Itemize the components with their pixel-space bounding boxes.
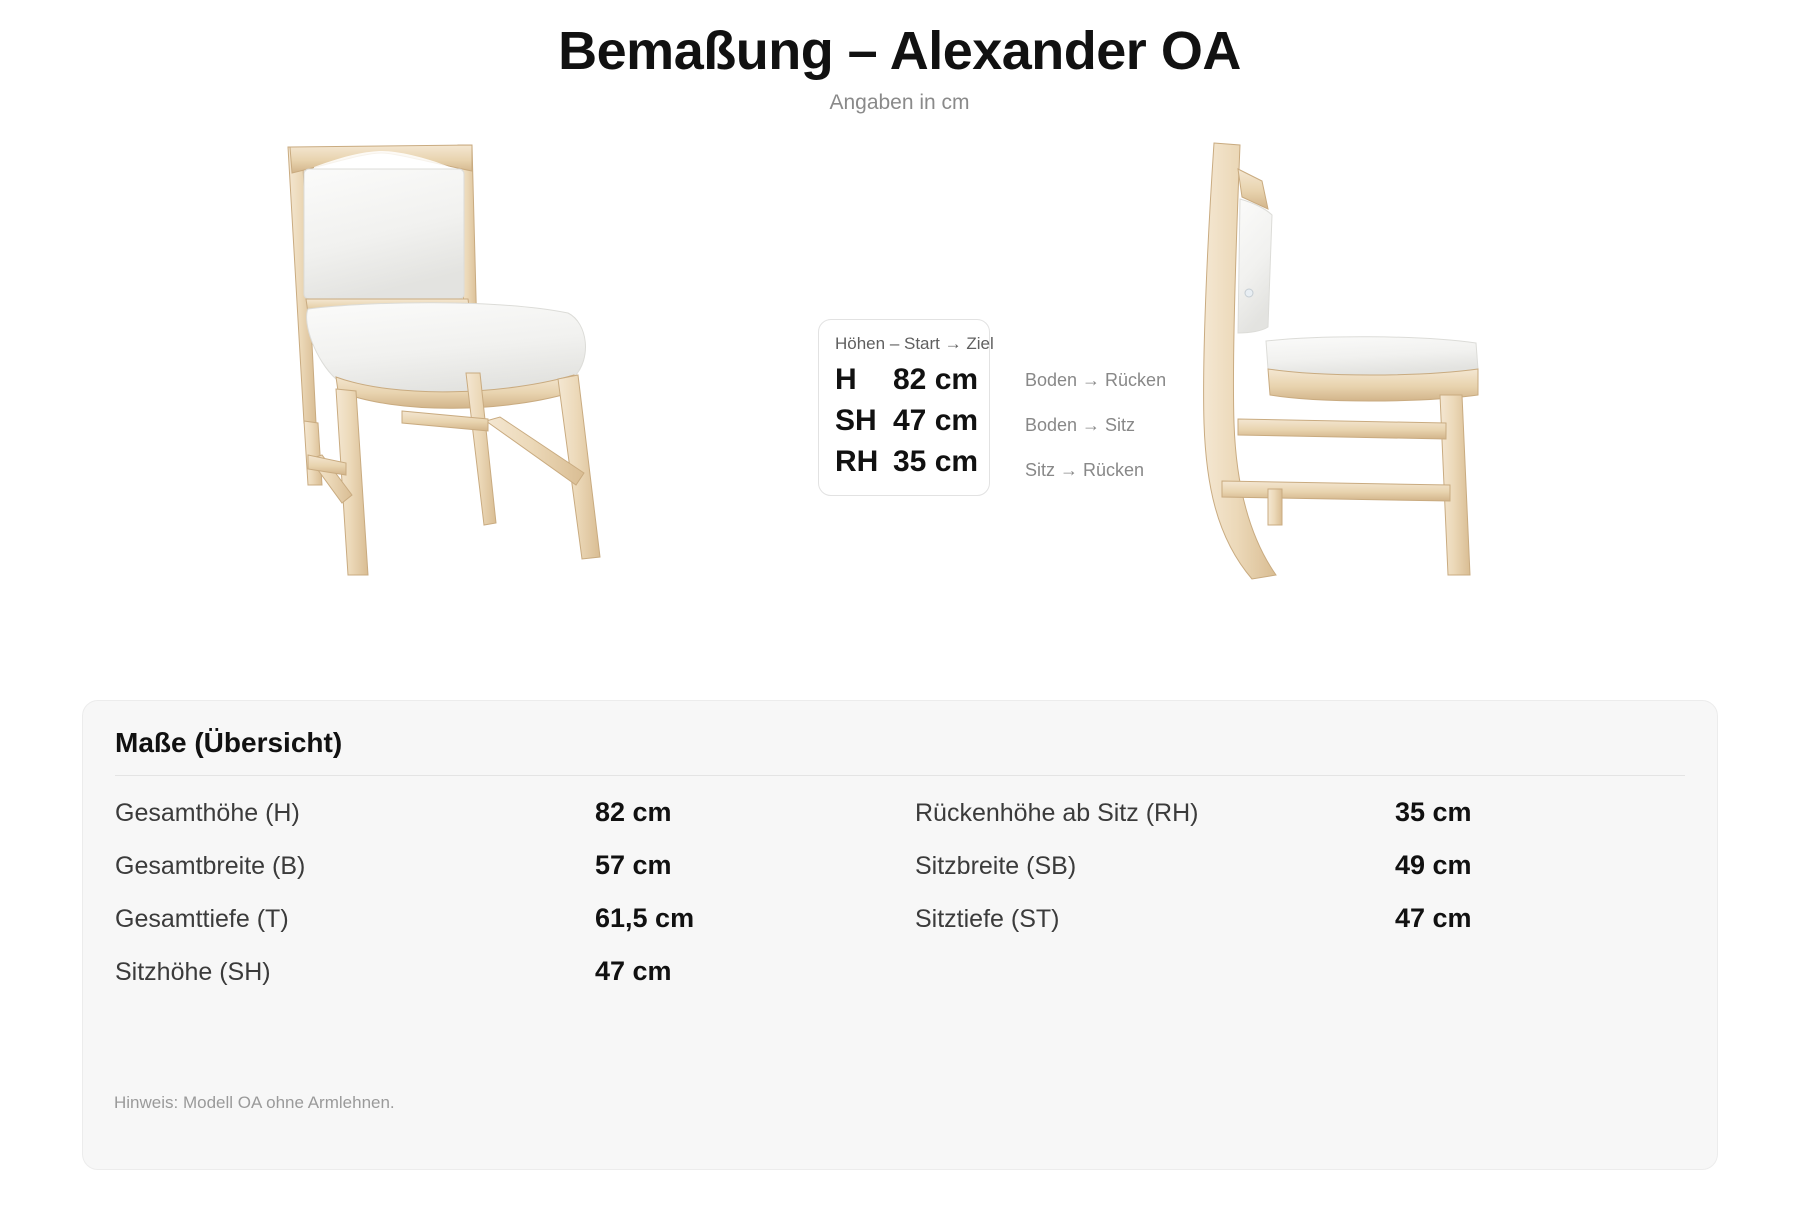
legend-note-sh: Boden → Sitz bbox=[1025, 403, 1166, 448]
page-subtitle: Angaben in cm bbox=[0, 81, 1799, 115]
legend-row-rh: RH 35 cm bbox=[835, 445, 975, 479]
spec-value-back-height: 35 cm bbox=[1395, 786, 1715, 839]
legend-value-h: 82 cm bbox=[893, 363, 978, 397]
legend-code-rh: RH bbox=[835, 445, 893, 479]
spec-value-width: 57 cm bbox=[595, 839, 915, 892]
heights-legend: Höhen – Start → Ziel H 82 cm SH 47 cm RH… bbox=[818, 319, 990, 496]
legend-value-sh: 47 cm bbox=[893, 404, 978, 438]
spec-label-height: Gesamthöhe (H) bbox=[115, 788, 595, 839]
spec-value-seat-height: 47 cm bbox=[595, 945, 915, 998]
spec-label-seat-width: Sitzbreite (SB) bbox=[915, 841, 1395, 892]
measurements-note: Hinweis: Modell OA ohne Armlehnen. bbox=[114, 1093, 395, 1113]
measurements-grid: Gesamthöhe (H) 82 cm Rückenhöhe ab Sitz … bbox=[115, 786, 1685, 998]
spec-filler-label bbox=[915, 958, 1395, 980]
spec-label-seat-depth: Sitztiefe (ST) bbox=[915, 894, 1395, 945]
spec-label-width: Gesamtbreite (B) bbox=[115, 841, 595, 892]
legend-note-rh: Sitz → Rücken bbox=[1025, 448, 1166, 493]
spec-label-seat-height: Sitzhöhe (SH) bbox=[115, 947, 595, 998]
measurements-title: Maße (Übersicht) bbox=[115, 727, 1685, 759]
spec-value-seat-depth: 47 cm bbox=[1395, 892, 1715, 945]
spec-filler-value bbox=[1395, 958, 1715, 980]
spec-label-depth: Gesamttiefe (T) bbox=[115, 894, 595, 945]
page-title: Bemaßung – Alexander OA bbox=[0, 0, 1799, 81]
legend-code-h: H bbox=[835, 363, 893, 397]
legend-note-h: Boden → Rücken bbox=[1025, 358, 1166, 403]
spec-value-depth: 61,5 cm bbox=[595, 892, 915, 945]
spec-label-back-height: Rückenhöhe ab Sitz (RH) bbox=[915, 788, 1395, 839]
legend-title: Höhen – Start → Ziel bbox=[835, 334, 975, 354]
legend-value-rh: 35 cm bbox=[893, 445, 978, 479]
chair-front-illustration bbox=[196, 123, 696, 593]
measurements-divider bbox=[115, 775, 1685, 776]
legend-row-h: H 82 cm bbox=[835, 363, 975, 397]
legend-row-sh: SH 47 cm bbox=[835, 404, 975, 438]
legend-code-sh: SH bbox=[835, 404, 893, 438]
spec-value-height: 82 cm bbox=[595, 786, 915, 839]
front-view-block bbox=[196, 123, 696, 593]
views-section: Höhen – Start → Ziel H 82 cm SH 47 cm RH… bbox=[0, 123, 1799, 683]
spec-value-seat-width: 49 cm bbox=[1395, 839, 1715, 892]
legend-notes: Boden → Rücken Boden → Sitz Sitz → Rücke… bbox=[1025, 358, 1166, 493]
